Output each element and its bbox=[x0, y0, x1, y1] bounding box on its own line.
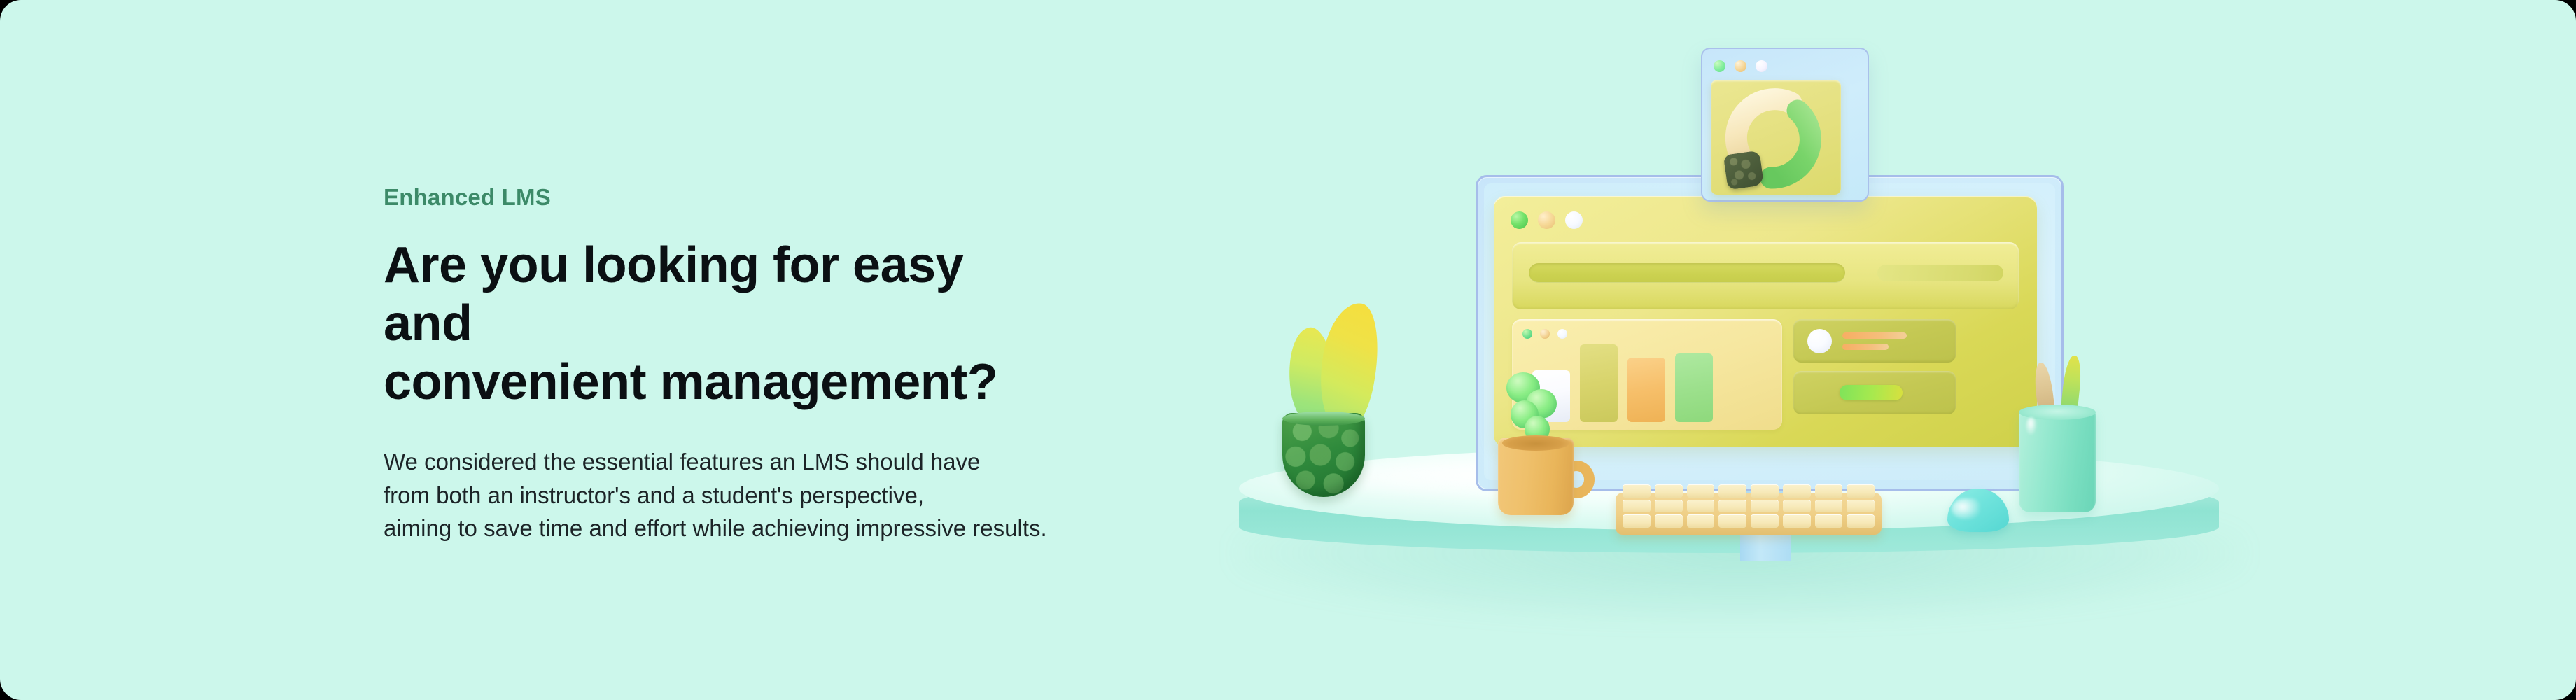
key[interactable] bbox=[1623, 514, 1651, 528]
key[interactable] bbox=[1623, 484, 1651, 498]
key[interactable] bbox=[1751, 500, 1779, 513]
float-close-dot-icon[interactable] bbox=[1714, 60, 1725, 72]
key[interactable] bbox=[1815, 500, 1843, 513]
plant-pot-rim bbox=[1282, 412, 1365, 426]
key[interactable] bbox=[1847, 500, 1875, 513]
user-name-line bbox=[1842, 332, 1907, 339]
search-input[interactable] bbox=[1529, 263, 1845, 283]
donut-chart-window[interactable] bbox=[1701, 48, 1869, 202]
subcopy-line-3: aiming to save time and effort while ach… bbox=[384, 512, 1168, 545]
key[interactable] bbox=[1751, 514, 1779, 528]
key[interactable] bbox=[1783, 484, 1811, 498]
key[interactable] bbox=[1687, 484, 1715, 498]
headline-line-2: convenient management? bbox=[384, 353, 1056, 412]
bar-4 bbox=[1675, 353, 1713, 422]
action-row-card[interactable] bbox=[1793, 371, 1956, 414]
page-title: Are you looking for easy and convenient … bbox=[384, 237, 1056, 412]
close-dot-icon[interactable] bbox=[1511, 211, 1528, 229]
key[interactable] bbox=[1751, 484, 1779, 498]
donut-panel bbox=[1711, 80, 1841, 195]
key[interactable] bbox=[1623, 500, 1651, 513]
lms-desk-illustration bbox=[1218, 21, 2548, 679]
key[interactable] bbox=[1655, 484, 1683, 498]
donut-segment-dark bbox=[1723, 150, 1764, 190]
headline-line-1: Are you looking for easy and bbox=[384, 237, 1056, 353]
bar-2 bbox=[1580, 344, 1618, 422]
search-row bbox=[1512, 242, 2019, 309]
mug-steam bbox=[1504, 372, 1571, 444]
avatar bbox=[1807, 329, 1832, 353]
key[interactable] bbox=[1815, 514, 1843, 528]
plant-pot bbox=[1282, 413, 1365, 497]
key[interactable] bbox=[1783, 514, 1811, 528]
key[interactable] bbox=[1687, 514, 1715, 528]
primary-action-button[interactable] bbox=[1840, 385, 1903, 400]
mini-close-dot-icon[interactable] bbox=[1522, 329, 1532, 339]
dashboard-window bbox=[1494, 196, 2037, 447]
bar-3 bbox=[1627, 358, 1665, 422]
user-meta-line bbox=[1842, 344, 1889, 350]
key[interactable] bbox=[1655, 514, 1683, 528]
pencil-green bbox=[2061, 355, 2083, 409]
subcopy-paragraph: We considered the essential features an … bbox=[384, 445, 1168, 545]
key[interactable] bbox=[1815, 484, 1843, 498]
pencil-cup-highlight bbox=[2026, 417, 2037, 435]
eyebrow-label: Enhanced LMS bbox=[384, 183, 1224, 211]
subcopy-line-2: from both an instructor's and a student'… bbox=[384, 479, 1168, 512]
donut-chart bbox=[1723, 88, 1828, 192]
user-row-card[interactable] bbox=[1793, 319, 1956, 363]
key[interactable] bbox=[1847, 514, 1875, 528]
hero-card: Enhanced LMS Are you looking for easy an… bbox=[0, 0, 2576, 700]
maximize-dot-icon[interactable] bbox=[1565, 211, 1583, 229]
key[interactable] bbox=[1687, 500, 1715, 513]
minimize-dot-icon[interactable] bbox=[1538, 211, 1555, 229]
hero-text-block: Enhanced LMS Are you looking for easy an… bbox=[384, 183, 1224, 545]
float-window-traffic-lights bbox=[1714, 60, 1767, 72]
key[interactable] bbox=[1783, 500, 1811, 513]
keyboard-keys[interactable] bbox=[1623, 484, 1875, 528]
mug-opening bbox=[1502, 435, 1569, 451]
key[interactable] bbox=[1718, 500, 1746, 513]
window-traffic-lights bbox=[1511, 211, 1583, 229]
float-minimize-dot-icon[interactable] bbox=[1735, 60, 1746, 72]
key[interactable] bbox=[1847, 484, 1875, 498]
key[interactable] bbox=[1655, 500, 1683, 513]
key[interactable] bbox=[1718, 484, 1746, 498]
float-maximize-dot-icon[interactable] bbox=[1756, 60, 1767, 72]
mouse-highlight bbox=[1952, 498, 1980, 519]
subcopy-line-1: We considered the essential features an … bbox=[384, 445, 1168, 479]
key[interactable] bbox=[1718, 514, 1746, 528]
filter-button[interactable] bbox=[1877, 265, 2003, 281]
